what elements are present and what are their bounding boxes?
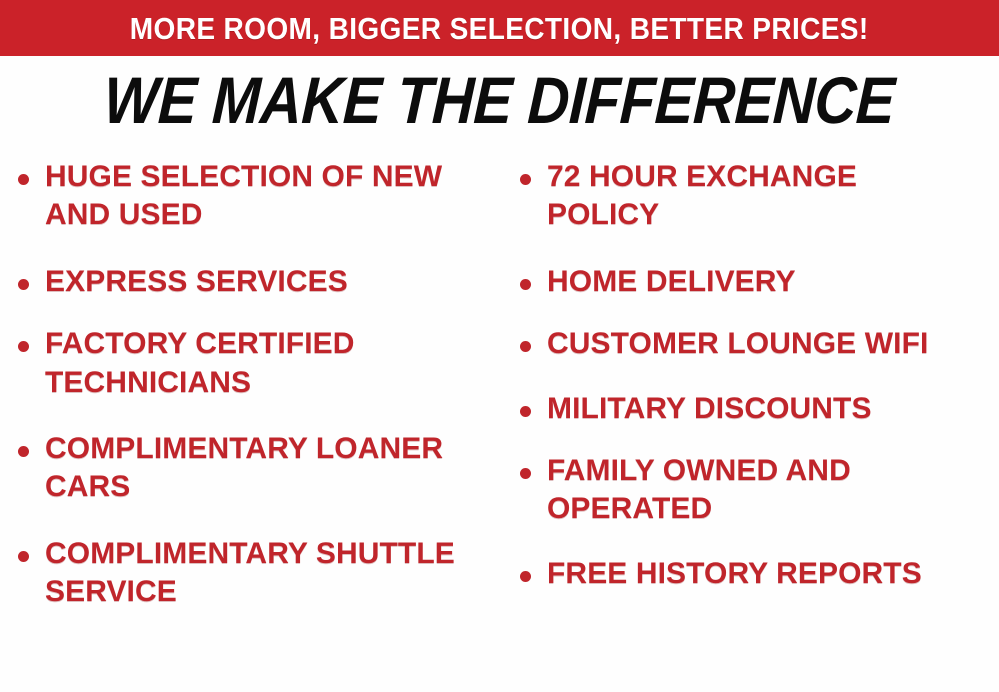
feature-list: HUGE SELECTION OF NEW AND USED EXPRESS S… — [0, 158, 999, 692]
list-item: COMPLIMENTARY LOANER CARS — [18, 430, 494, 507]
list-item: FREE HISTORY REPORTS — [520, 555, 995, 593]
list-item-label: FAMILY OWNED AND OPERATED — [547, 452, 977, 529]
bullet-dot-icon — [520, 468, 531, 479]
dealership-promo-banner: MORE ROOM, BIGGER SELECTION, BETTER PRIC… — [0, 0, 999, 692]
list-item: HOME DELIVERY — [520, 263, 995, 301]
bullet-dot-icon — [520, 174, 531, 185]
list-item: MILITARY DISCOUNTS — [520, 390, 995, 428]
bullet-dot-icon — [520, 341, 531, 352]
list-item-label: COMPLIMENTARY SHUTTLE SERVICE — [45, 535, 460, 612]
bullet-dot-icon — [18, 551, 29, 562]
list-item-label: HOME DELIVERY — [547, 263, 796, 301]
list-item: HUGE SELECTION OF NEW AND USED — [18, 158, 494, 235]
list-item: FAMILY OWNED AND OPERATED — [520, 452, 995, 529]
feature-list-right-column: 72 HOUR EXCHANGE POLICY HOME DELIVERY CU… — [500, 158, 999, 692]
list-item-label: HUGE SELECTION OF NEW AND USED — [45, 158, 460, 235]
bullet-dot-icon — [18, 174, 29, 185]
headline-text: WE MAKE THE DIFFERENCE — [103, 66, 897, 136]
list-item: CUSTOMER LOUNGE WIFI — [520, 325, 995, 363]
list-item-label: CUSTOMER LOUNGE WIFI — [547, 325, 928, 363]
top-promo-banner-text: MORE ROOM, BIGGER SELECTION, BETTER PRIC… — [130, 13, 869, 44]
bullet-dot-icon — [520, 279, 531, 290]
list-item-label: MILITARY DISCOUNTS — [547, 390, 872, 428]
bullet-dot-icon — [520, 406, 531, 417]
list-item-label: 72 HOUR EXCHANGE POLICY — [547, 158, 977, 235]
list-item: EXPRESS SERVICES — [18, 263, 494, 301]
bullet-dot-icon — [18, 341, 29, 352]
top-promo-banner: MORE ROOM, BIGGER SELECTION, BETTER PRIC… — [0, 0, 999, 56]
feature-list-left-column: HUGE SELECTION OF NEW AND USED EXPRESS S… — [0, 158, 500, 692]
bullet-dot-icon — [18, 446, 29, 457]
list-item-label: FREE HISTORY REPORTS — [547, 555, 922, 593]
headline: WE MAKE THE DIFFERENCE — [0, 66, 999, 136]
list-item: COMPLIMENTARY SHUTTLE SERVICE — [18, 535, 494, 612]
list-item-label: COMPLIMENTARY LOANER CARS — [45, 430, 460, 507]
list-item-label: EXPRESS SERVICES — [45, 263, 348, 301]
bullet-dot-icon — [18, 279, 29, 290]
list-item: FACTORY CERTIFIED TECHNICIANS — [18, 325, 494, 402]
list-item-label: FACTORY CERTIFIED TECHNICIANS — [45, 325, 460, 402]
list-item: 72 HOUR EXCHANGE POLICY — [520, 158, 995, 235]
bullet-dot-icon — [520, 571, 531, 582]
